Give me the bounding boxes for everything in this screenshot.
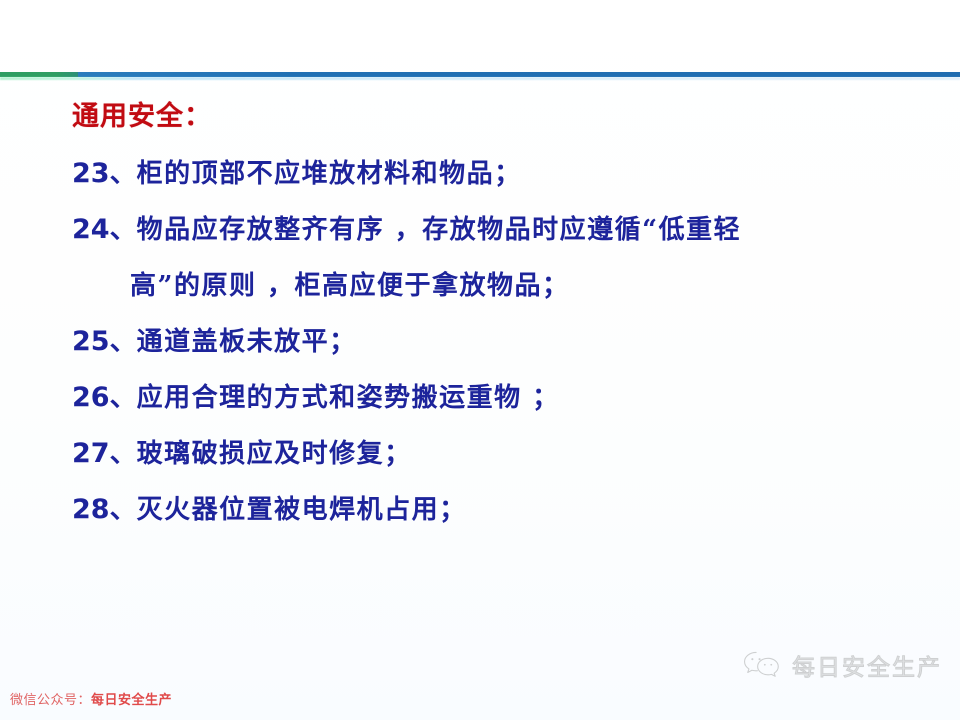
list-item: 23、 柜的顶部不应堆放材料和物品；	[72, 146, 960, 202]
list-item-number: 23、	[72, 146, 137, 202]
list-item-text: 物品应存放整齐有序 ，存放物品时应遵循“低重轻	[137, 202, 960, 258]
watermark-right-account-name: 每日安全生产	[792, 648, 942, 682]
section-title: 通用安全：	[72, 100, 960, 134]
divider-glow	[0, 77, 960, 80]
list-item: 24、 物品应存放整齐有序 ，存放物品时应遵循“低重轻	[72, 202, 960, 258]
list-item: 27、 玻璃破损应及时修复；	[72, 426, 960, 482]
list-item-text: 柜的顶部不应堆放材料和物品；	[137, 146, 960, 202]
slide-canvas: 通用安全： 23、 柜的顶部不应堆放材料和物品； 24、 物品应存放整齐有序 ，…	[0, 0, 960, 720]
list-item-number: 27、	[72, 426, 137, 482]
watermark-left-account-name: 每日安全生产	[91, 693, 172, 708]
watermark-left-prefix: 微信公众号：	[10, 693, 91, 708]
list-item: 28、 灭火器位置被电焊机占用；	[72, 482, 960, 538]
list-item-number: 26、	[72, 370, 137, 426]
list-item-number: 24、	[72, 202, 137, 258]
watermark-bottom-left: 微信公众号：每日安全生产	[10, 689, 172, 708]
list-item: 25、 通道盖板未放平；	[72, 314, 960, 370]
list-item-number: 28、	[72, 482, 137, 538]
wechat-icon	[742, 649, 782, 681]
list-item-text: 灭火器位置被电焊机占用；	[137, 482, 960, 538]
list-item: 26、 应用合理的方式和姿势搬运重物 ；	[72, 370, 960, 426]
list-item-text: 应用合理的方式和姿势搬运重物 ；	[137, 370, 960, 426]
safety-item-list: 23、 柜的顶部不应堆放材料和物品； 24、 物品应存放整齐有序 ，存放物品时应…	[0, 146, 960, 538]
slide-content: 通用安全： 23、 柜的顶部不应堆放材料和物品； 24、 物品应存放整齐有序 ，…	[0, 100, 960, 538]
list-item-continuation: 高”的原则 ，柜高应便于拿放物品；	[72, 258, 960, 314]
watermark-bottom-right: 每日安全生产	[742, 648, 942, 682]
list-item-text: 玻璃破损应及时修复；	[137, 426, 960, 482]
list-item-number: 25、	[72, 314, 137, 370]
header-divider-rule	[0, 72, 960, 77]
list-item-text: 通道盖板未放平；	[137, 314, 960, 370]
